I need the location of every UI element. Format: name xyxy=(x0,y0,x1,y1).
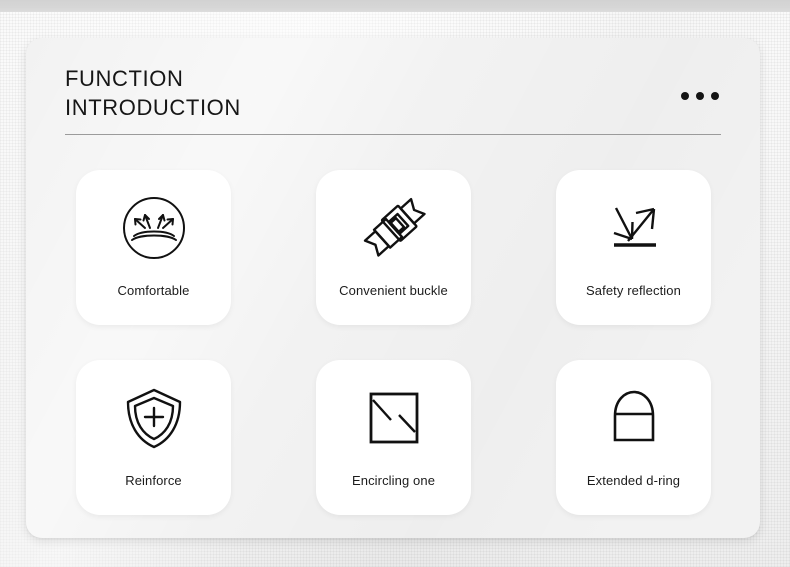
feature-card-label: Convenient buckle xyxy=(316,283,471,298)
page-root: FUNCTION INTRODUCTION xyxy=(0,0,790,567)
page-title-line-1: FUNCTION xyxy=(65,64,721,93)
feature-card-safety-reflection[interactable]: Safety reflection xyxy=(556,170,711,325)
feature-card-label: Comfortable xyxy=(76,283,231,298)
page-title-line-2: INTRODUCTION xyxy=(65,93,721,122)
feature-card-label: Encircling one xyxy=(316,473,471,488)
breathable-circle-arrows-icon xyxy=(118,192,190,264)
feature-card-label: Extended d-ring xyxy=(556,473,711,488)
feature-card-convenient-buckle[interactable]: Convenient buckle xyxy=(316,170,471,325)
feature-grid: Comfortable xyxy=(76,170,716,515)
feature-card-reinforce[interactable]: Reinforce xyxy=(76,360,231,515)
feature-card-extended-d-ring[interactable]: Extended d-ring xyxy=(556,360,711,515)
menu-dot-icon xyxy=(711,92,719,100)
seatbelt-buckle-icon xyxy=(358,192,430,264)
feature-card-comfortable[interactable]: Comfortable xyxy=(76,170,231,325)
more-options-button[interactable] xyxy=(681,92,719,100)
top-gray-band xyxy=(0,0,790,12)
feature-card-label: Safety reflection xyxy=(556,283,711,298)
panel-header: FUNCTION INTRODUCTION xyxy=(65,64,721,122)
shield-plus-icon xyxy=(118,382,190,454)
menu-dot-icon xyxy=(696,92,704,100)
function-introduction-panel: FUNCTION INTRODUCTION xyxy=(26,38,760,538)
d-ring-icon xyxy=(598,382,670,454)
menu-dot-icon xyxy=(681,92,689,100)
feature-card-label: Reinforce xyxy=(76,473,231,488)
feature-card-encircling-one[interactable]: Encircling one xyxy=(316,360,471,515)
square-diagonal-strap-icon xyxy=(358,382,430,454)
header-divider xyxy=(65,134,721,135)
reflection-arrows-icon xyxy=(598,192,670,264)
